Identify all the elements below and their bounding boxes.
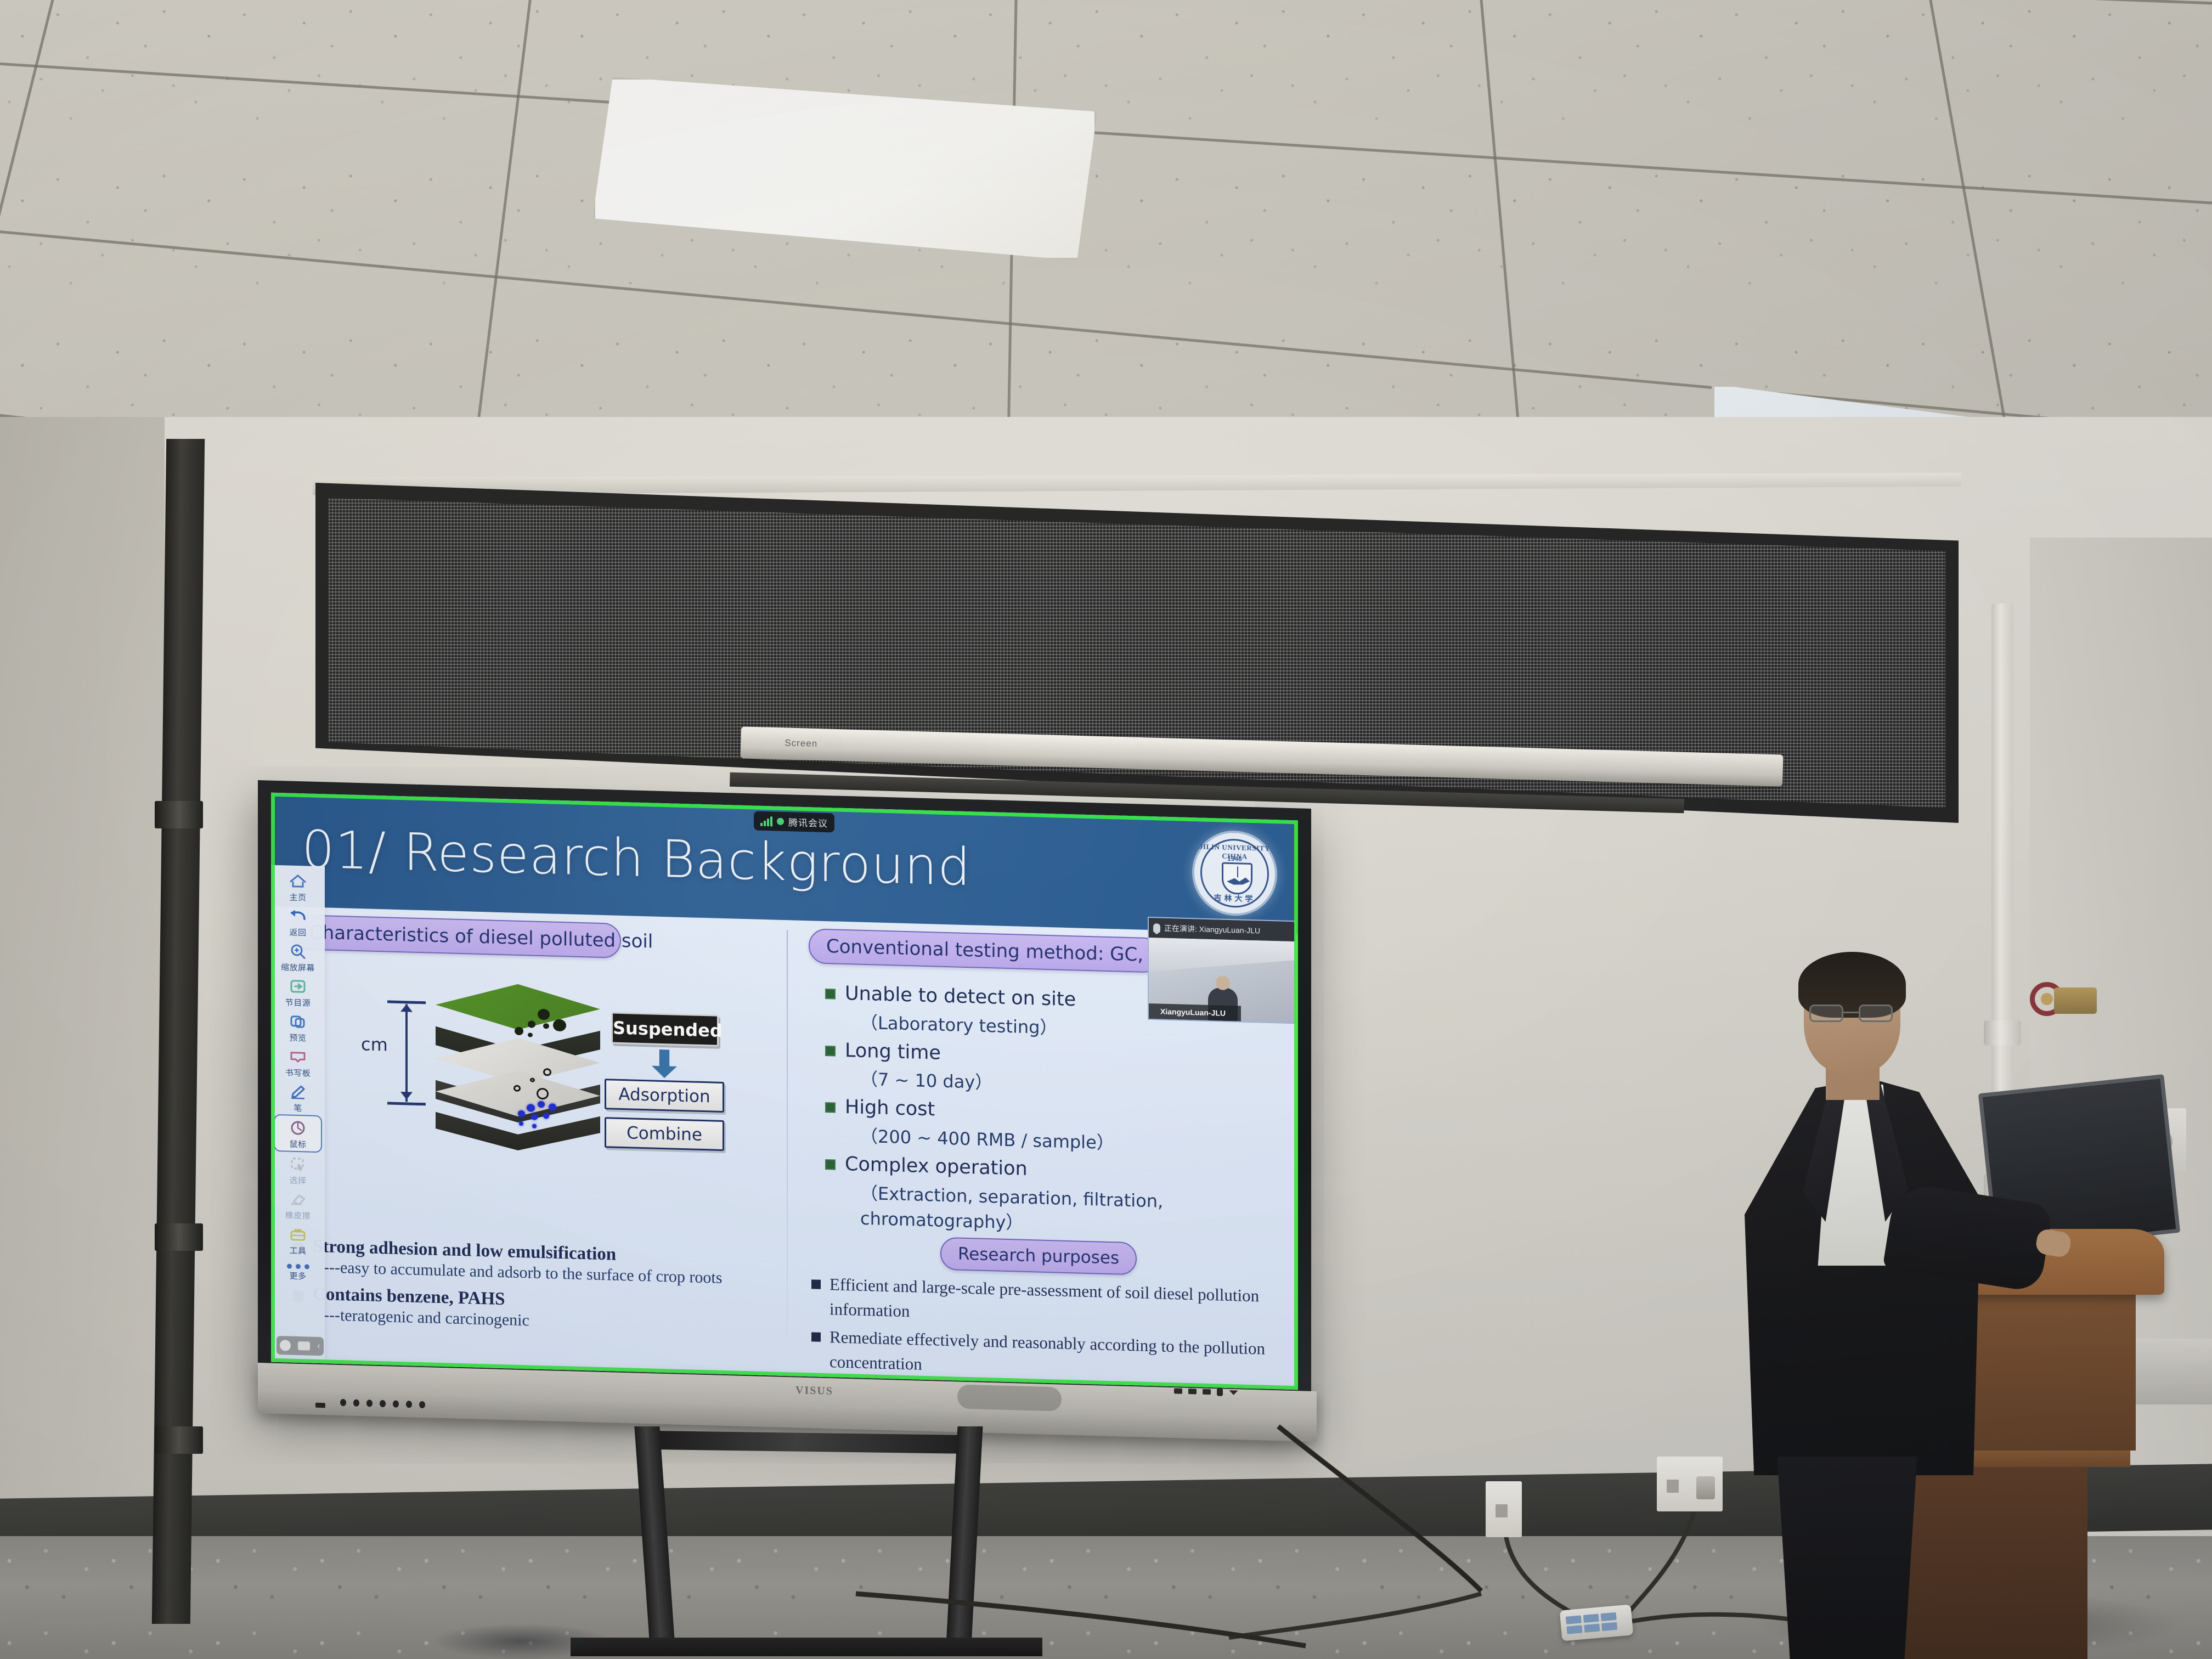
sidebar-label: 工具 bbox=[289, 1245, 306, 1257]
eraser-icon bbox=[286, 1189, 309, 1209]
ports-icon bbox=[315, 1403, 325, 1408]
bezel-power-button[interactable] bbox=[957, 1384, 1062, 1411]
step-box-combine: Combine bbox=[605, 1117, 724, 1151]
presenter bbox=[1734, 957, 1997, 1659]
microphone-icon bbox=[1153, 923, 1160, 933]
sidebar-label: 笔 bbox=[294, 1102, 302, 1114]
whiteboard-icon bbox=[286, 1046, 309, 1066]
bullet-text: Complex operation bbox=[845, 1153, 1028, 1181]
roller-brand-label: Screen bbox=[785, 737, 817, 749]
ifp-sidebar[interactable]: 主页 返回 缩放屏幕 节目源 bbox=[271, 865, 325, 1364]
list-item: Efficient and large-scale pre-assessment… bbox=[811, 1272, 1278, 1334]
display-screen[interactable]: 01/ Research Background JILIN UNIVERSITY… bbox=[271, 793, 1298, 1390]
wall-outlet[interactable] bbox=[1657, 1457, 1723, 1511]
left-bullet-list: Strong adhesion and low emulsification -… bbox=[293, 1236, 776, 1345]
sidebar-item-source[interactable]: 节目源 bbox=[271, 974, 325, 1011]
step-box-adsorption: Adsorption bbox=[605, 1079, 724, 1113]
power-strip-sockets bbox=[1566, 1612, 1617, 1634]
right-section-heading: Conventional testing method: GC, bbox=[809, 928, 1161, 973]
floor-power-strip[interactable] bbox=[1560, 1604, 1633, 1641]
pen-icon bbox=[286, 1081, 309, 1102]
logo-chinese-name: 吉林大学 bbox=[1194, 891, 1275, 905]
bullet-square-icon bbox=[825, 1046, 836, 1057]
sidebar-label: 缩放屏幕 bbox=[281, 961, 315, 974]
floor-shadow bbox=[433, 1624, 609, 1659]
outlet-jack bbox=[1496, 1504, 1508, 1517]
keyboard-icon[interactable] bbox=[298, 1341, 310, 1351]
sidebar-label: 鼠标 bbox=[289, 1138, 306, 1150]
conduit-clamp bbox=[155, 1223, 203, 1251]
participant-name: XiangyuLuan-JLU bbox=[1160, 1007, 1226, 1018]
bullet-square-icon bbox=[811, 1279, 821, 1289]
bullet-square-icon bbox=[825, 1159, 836, 1170]
glasses-icon bbox=[1806, 1005, 1900, 1023]
mouse-icon bbox=[286, 1118, 309, 1138]
bullet-square-icon bbox=[811, 1332, 821, 1341]
logo-shield-icon bbox=[1222, 862, 1252, 895]
source-input-icon bbox=[286, 976, 309, 996]
home-icon bbox=[286, 871, 309, 891]
sidebar-item-home[interactable]: 主页 bbox=[271, 868, 325, 905]
conduit-clamp bbox=[155, 801, 203, 828]
conduit-clamp bbox=[155, 1426, 203, 1454]
bullet-square-icon bbox=[825, 989, 836, 1000]
valve-body bbox=[2054, 988, 2097, 1014]
sidebar-label: 节目源 bbox=[285, 996, 311, 1008]
microphone-icon bbox=[1152, 1008, 1158, 1015]
slide-body: Characteristics of diesel polluted soil … bbox=[271, 906, 1298, 1390]
down-arrow-icon bbox=[652, 1049, 677, 1078]
chevron-left-icon[interactable]: ‹ bbox=[317, 1341, 320, 1351]
sidebar-item-more[interactable]: 更多 bbox=[271, 1257, 325, 1284]
logo-bird-icon bbox=[1227, 876, 1250, 887]
display-stand-foot bbox=[571, 1638, 1042, 1656]
display-brand-label: VISUS bbox=[795, 1384, 833, 1398]
preview-icon bbox=[286, 1011, 309, 1031]
signal-bars-icon bbox=[760, 816, 772, 826]
sidebar-label: 返回 bbox=[289, 927, 306, 939]
bullet-text: Long time bbox=[845, 1039, 941, 1065]
purpose-text: Remediate effectively and reasonably acc… bbox=[830, 1325, 1278, 1386]
room-scene: Screen 01/ Research Background JILIN UNI… bbox=[0, 0, 2212, 1659]
video-name-bar: XiangyuLuan-JLU bbox=[1149, 1003, 1241, 1022]
power-plug bbox=[1696, 1476, 1715, 1499]
purpose-text: Efficient and large-scale pre-assessment… bbox=[830, 1272, 1278, 1334]
sidebar-label: 选择 bbox=[289, 1175, 306, 1187]
sidebar-label: 橡皮擦 bbox=[285, 1209, 311, 1221]
sidebar-item-tools[interactable]: 工具 bbox=[271, 1222, 325, 1259]
list-item: Remediate effectively and reasonably acc… bbox=[811, 1324, 1278, 1386]
speaker-video-overlay[interactable]: 正在演讲: XiangyuLuan-JLU XiangyuLuan-JLU bbox=[1148, 917, 1296, 1024]
soil-cube bbox=[436, 982, 600, 1140]
outlet-jack bbox=[1667, 1480, 1679, 1493]
sidebar-item-select[interactable]: 选择 bbox=[271, 1152, 325, 1188]
bullet-text: High cost bbox=[845, 1096, 935, 1121]
bullet-subtext: （Extraction, separation, filtration, chr… bbox=[860, 1179, 1280, 1241]
current-speaker-label: 正在演讲: XiangyuLuan-JLU bbox=[1164, 923, 1260, 936]
research-purposes-list: Efficient and large-scale pre-assessment… bbox=[811, 1272, 1278, 1390]
floating-mini-toolbar[interactable]: ‹ bbox=[276, 1336, 324, 1356]
research-purposes-heading: Research purposes bbox=[940, 1237, 1137, 1276]
sidebar-item-preview[interactable]: 预览 bbox=[271, 1009, 325, 1046]
powerpoint-slide: 01/ Research Background JILIN UNIVERSITY… bbox=[271, 793, 1298, 1390]
soil-layers-diagram: cm bbox=[364, 974, 672, 1147]
sidebar-item-pen[interactable]: 笔 bbox=[271, 1079, 325, 1116]
sidebar-label: 书写板 bbox=[285, 1066, 311, 1079]
back-arrow-icon bbox=[286, 906, 309, 926]
bullet-square-icon bbox=[825, 1102, 836, 1113]
suspended-badge: Suspended bbox=[611, 1012, 719, 1046]
depth-unit-label: cm bbox=[361, 1034, 388, 1055]
emoji-icon[interactable] bbox=[280, 1340, 291, 1351]
recording-dot-icon bbox=[777, 818, 784, 825]
slide-title: 01/ Research Background bbox=[302, 820, 971, 898]
left-section-heading: Characteristics of diesel polluted soil bbox=[292, 915, 621, 958]
meeting-app-label: 腾讯会议 bbox=[788, 815, 828, 830]
sidebar-item-whiteboard[interactable]: 书写板 bbox=[271, 1044, 325, 1081]
university-logo-icon: JILIN UNIVERSITY CHINA 1946 吉林大学 bbox=[1192, 830, 1277, 917]
sidebar-label: 预览 bbox=[289, 1032, 306, 1044]
sidebar-item-eraser[interactable]: 橡皮擦 bbox=[271, 1187, 325, 1223]
wall-outlet[interactable] bbox=[1486, 1481, 1522, 1537]
presenter-legs bbox=[1768, 1457, 1927, 1659]
left-wall-return bbox=[0, 417, 165, 1659]
sidebar-item-mouse[interactable]: 鼠标 bbox=[274, 1114, 322, 1153]
column-divider bbox=[787, 930, 788, 1338]
bullet-text: Unable to detect on site bbox=[845, 982, 1076, 1012]
select-icon bbox=[286, 1154, 309, 1174]
sidebar-item-back[interactable]: 返回 bbox=[271, 904, 325, 940]
more-dots-icon bbox=[287, 1263, 309, 1269]
depth-dimension-arrow bbox=[387, 1000, 426, 1105]
toolbox-icon bbox=[286, 1224, 309, 1244]
zoom-screen-icon bbox=[286, 941, 309, 961]
meeting-status-chip[interactable]: 腾讯会议 bbox=[754, 811, 834, 832]
sidebar-label: 主页 bbox=[289, 891, 306, 904]
sidebar-label: 更多 bbox=[289, 1270, 306, 1282]
sidebar-item-zoom-screen[interactable]: 缩放屏幕 bbox=[271, 939, 325, 975]
